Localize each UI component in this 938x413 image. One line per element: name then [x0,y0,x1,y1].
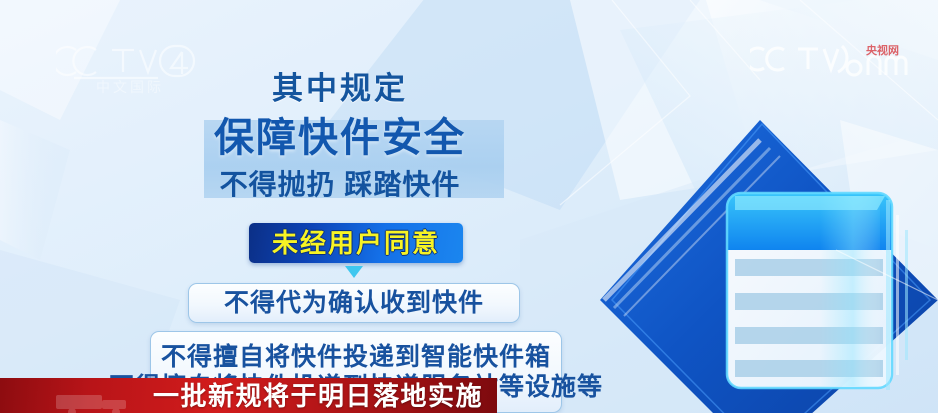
headline-main-title: 保障快件安全 [0,118,620,158]
document-icon [727,193,892,388]
rule-text-line: 不得擅自将快件投递到智能快件箱 [161,342,551,373]
delivery-vehicle-icon [38,389,158,413]
condition-chip: 未经用户同意 [249,223,463,263]
down-triangle-icon [345,266,363,278]
news-chyron: 一批新规将于明日落地实施 [0,378,497,413]
cctv-com-badge-text: 央视网 [866,43,899,57]
cctv-com-watermark-icon: 央视网 [750,38,920,82]
headline-sub-title: 不得抛扔 踩踏快件 [0,171,620,199]
headline-kicker: 其中规定 [0,72,620,106]
rule-box: 不得代为确认收到快件 [188,283,520,323]
rule-text-line: 不得代为确认收到快件 [224,288,484,319]
broadcast-screenshot: 中文国际 央视网 其中规定 保障快件安全 不得抛扔 踩踏快件 [0,0,938,413]
headline-block: 其中规定 保障快件安全 不得抛扔 踩踏快件 [0,72,620,199]
chyron-headline: 一批新规将于明日落地实施 [153,383,483,409]
cctv-com-watermark: 央视网 [750,38,920,82]
condition-chip-label: 未经用户同意 [272,230,440,256]
